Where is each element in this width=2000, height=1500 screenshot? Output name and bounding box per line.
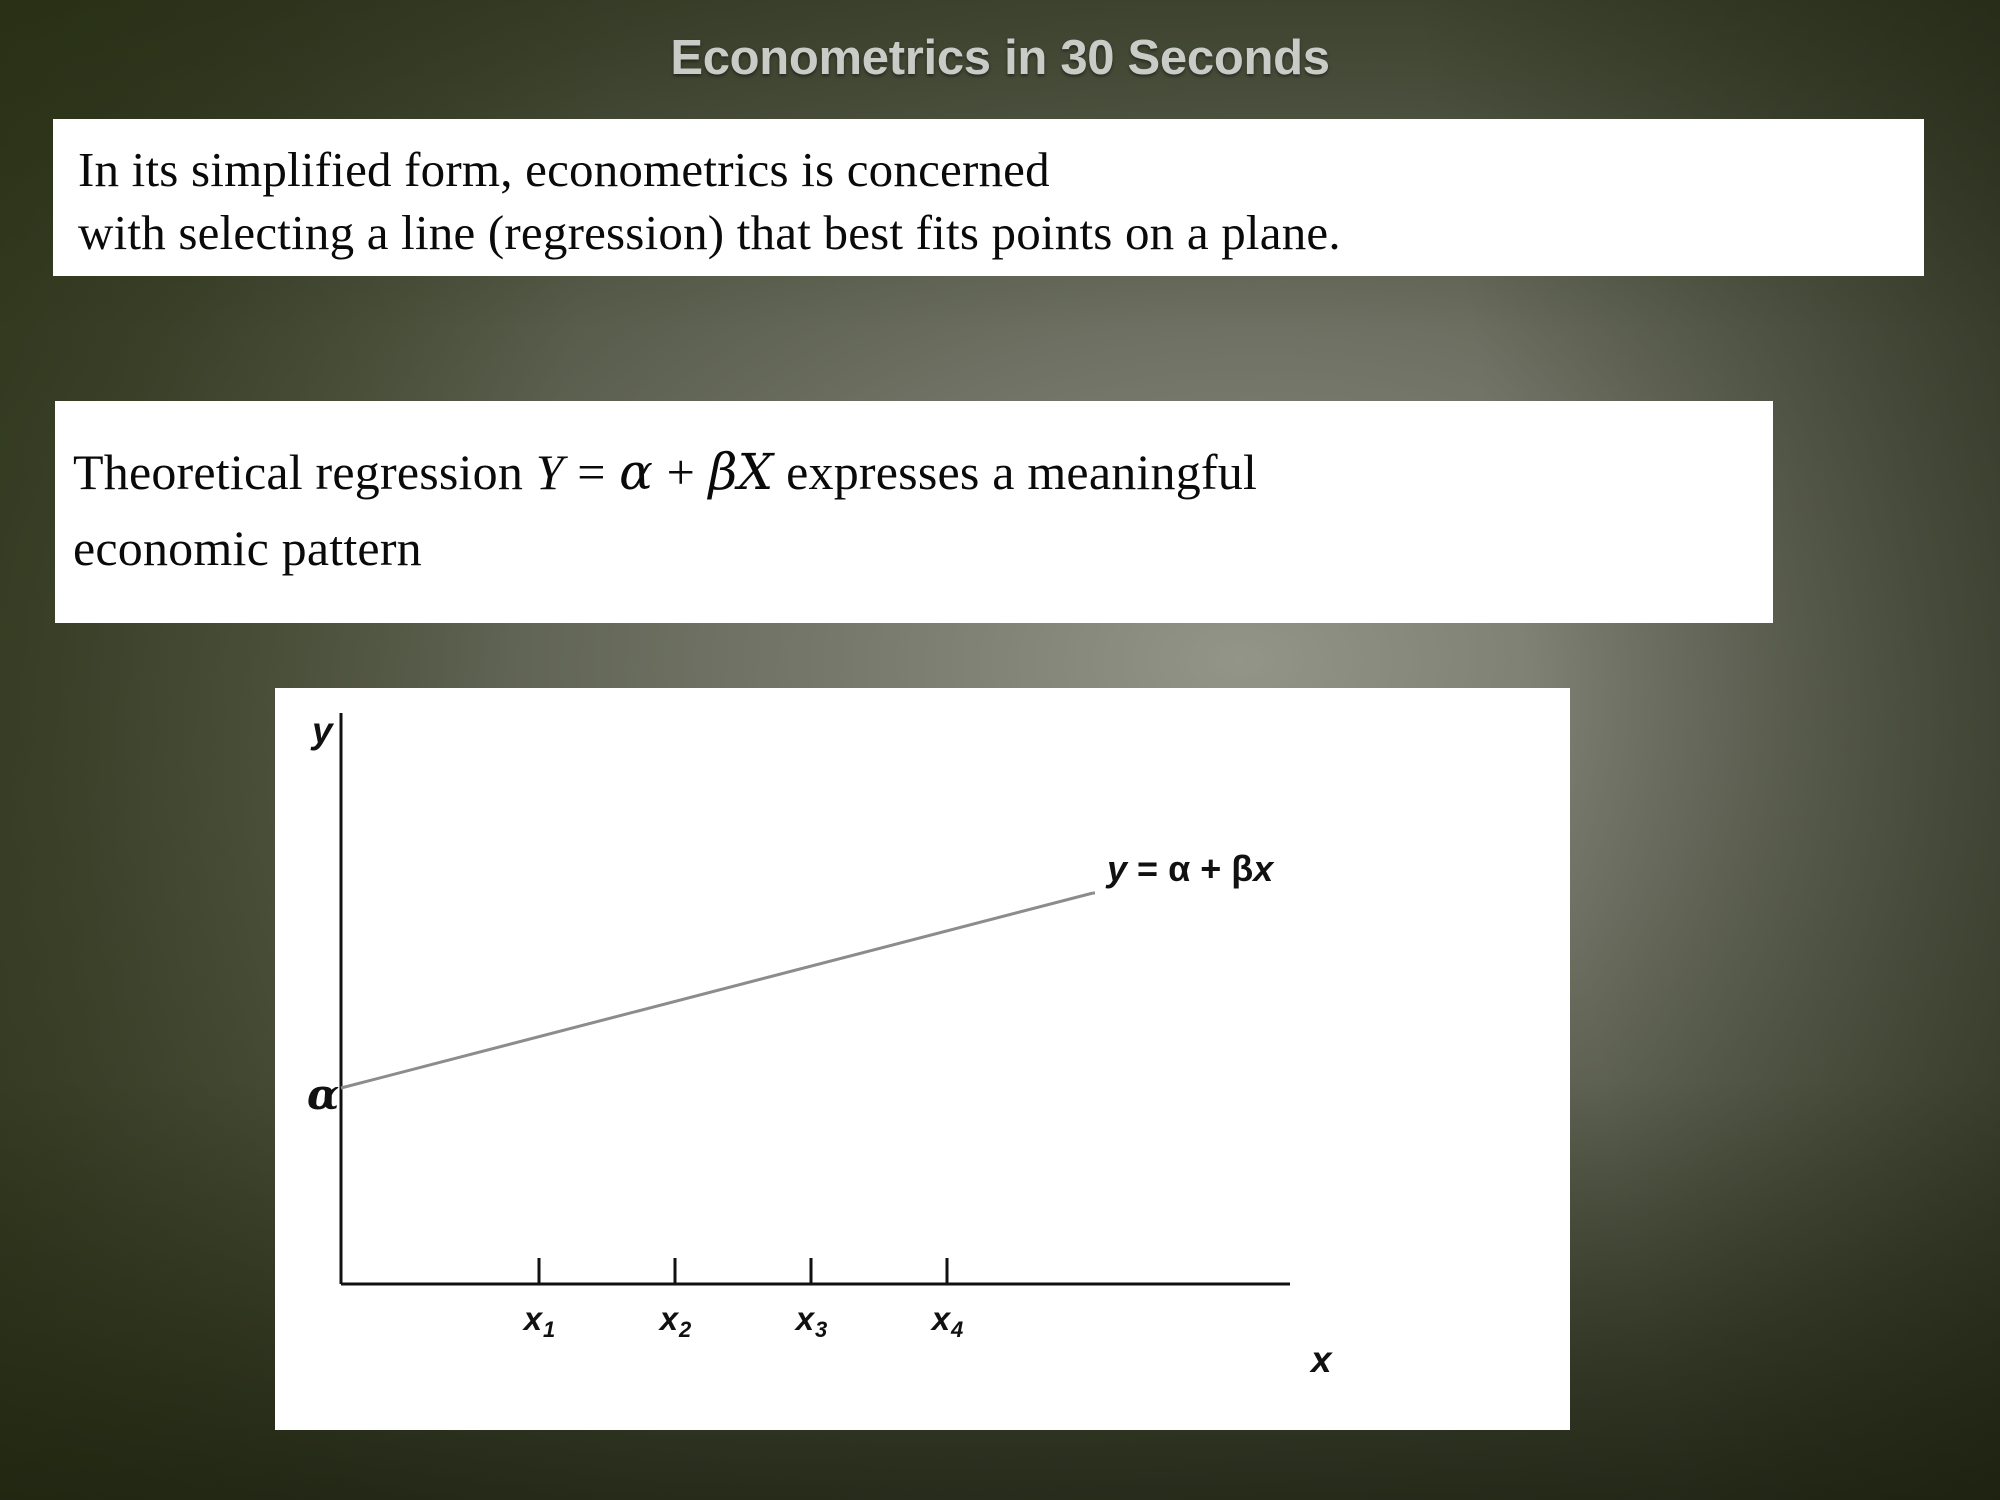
regression-line bbox=[341, 893, 1093, 1088]
statement-line-2: with selecting a line (regression) that … bbox=[78, 201, 1924, 264]
x-tick-label-3: x3 bbox=[796, 1300, 827, 1338]
annotation-equals: = bbox=[1137, 848, 1158, 889]
annotation-x: x bbox=[1253, 848, 1273, 889]
x-axis-label: x bbox=[1311, 1339, 1332, 1381]
theory-prefix: Theoretical regression bbox=[73, 444, 536, 500]
theory-suffix: expresses a meaningful bbox=[773, 444, 1257, 500]
theory-textbox: Theoretical regression Y = α + βX expres… bbox=[55, 401, 1773, 623]
regression-equation-annotation: y = α + βx bbox=[1107, 848, 1273, 890]
x-tick-label-1: x1 bbox=[524, 1300, 555, 1338]
statement-textbox: In its simplified form, econometrics is … bbox=[53, 119, 1924, 276]
equation-equals: = bbox=[577, 444, 605, 500]
x-tick-label-1-sub: 1 bbox=[543, 1317, 555, 1342]
annotation-alpha: α bbox=[1168, 848, 1190, 889]
x-tick-label-4-sub: 4 bbox=[951, 1317, 963, 1342]
x-tick-label-3-sub: 3 bbox=[815, 1317, 827, 1342]
theory-line-1: Theoretical regression Y = α + βX expres… bbox=[73, 434, 1773, 510]
alpha-intercept-label: α bbox=[307, 1070, 339, 1119]
x-tick-label-2: x2 bbox=[660, 1300, 691, 1338]
slide-canvas: Econometrics in 30 Seconds In its simpli… bbox=[0, 0, 2000, 1500]
annotation-plus: + bbox=[1200, 848, 1221, 889]
annotation-beta: β bbox=[1231, 848, 1253, 889]
equation-lhs: Y bbox=[536, 444, 564, 500]
y-axis-label: y bbox=[312, 710, 333, 752]
regression-chart: y x α x1 x2 x3 x4 y = α + βx bbox=[275, 688, 1570, 1430]
chart-graphics bbox=[275, 688, 1570, 1430]
page-title: Econometrics in 30 Seconds bbox=[0, 30, 2000, 86]
annotation-y: y bbox=[1107, 848, 1127, 889]
statement-line-1: In its simplified form, econometrics is … bbox=[78, 138, 1924, 201]
equation-alpha: α bbox=[619, 443, 653, 501]
equation-plus: + bbox=[667, 444, 695, 500]
x-tick-label-2-sub: 2 bbox=[679, 1317, 691, 1342]
x-tick-label-4: x4 bbox=[932, 1300, 963, 1338]
equation-beta-x: βX bbox=[709, 443, 774, 501]
theory-line-2: economic pattern bbox=[73, 510, 1773, 586]
